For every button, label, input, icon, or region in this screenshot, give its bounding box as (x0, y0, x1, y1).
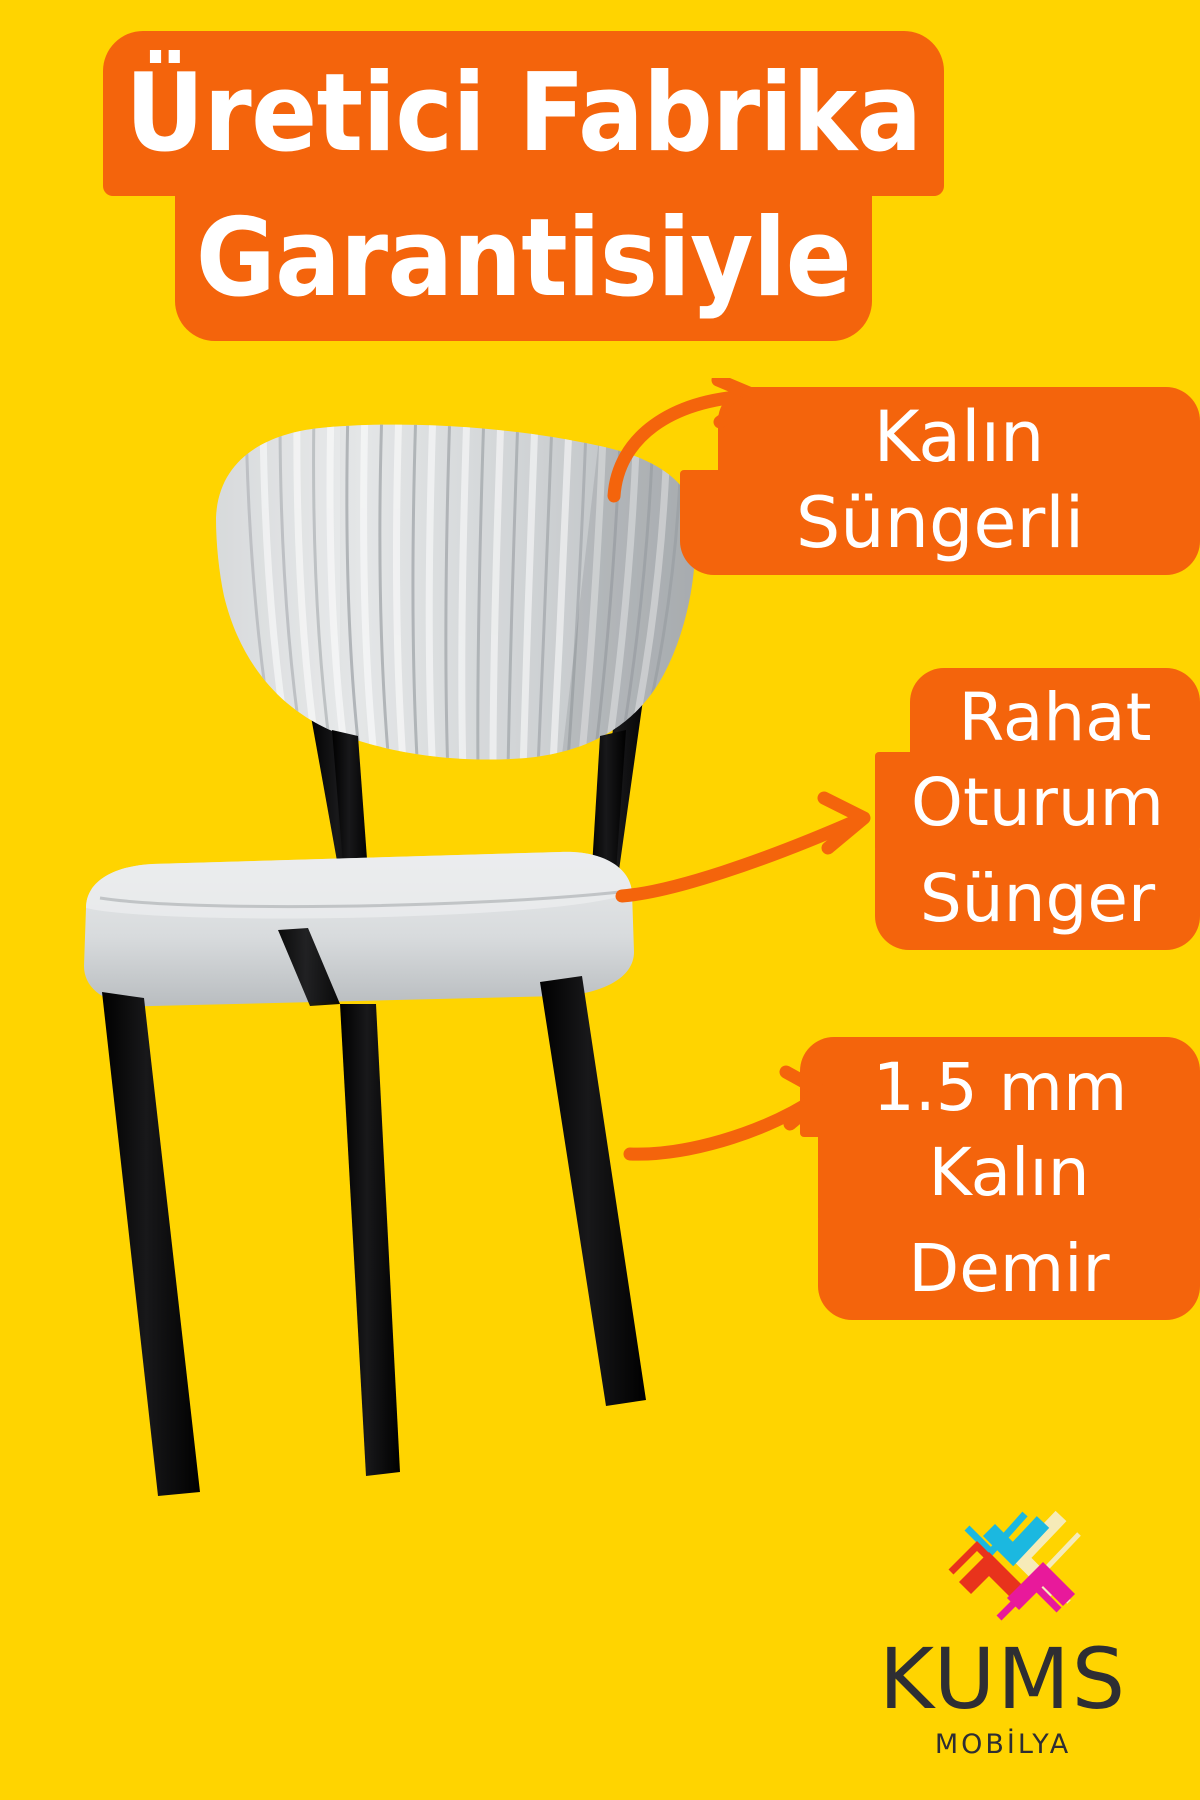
badge-rahat-oturum-sunger-line2: Oturum (875, 752, 1200, 852)
badge-kalin-demir-line3: Demir (818, 1216, 1200, 1320)
arrow-to-kalin-demir (620, 1060, 850, 1180)
brand-tagline: MOBİLYA (935, 1729, 1071, 1760)
header-line-1: Üretici Fabrika (103, 31, 944, 196)
kums-pinwheel-mark-icon (903, 1480, 1103, 1635)
chair-product-image (40, 400, 720, 1530)
badge-rahat-oturum-sunger-line3: Sünger (875, 846, 1200, 950)
arrow-to-rahat-oturum-sunger (612, 790, 892, 910)
poster-canvas: Üretici Fabrika Garantisiyle (0, 0, 1200, 1800)
chair-legs (102, 928, 646, 1496)
brand-logo: KUMS MOBİLYA (838, 1480, 1168, 1770)
header-line-2: Garantisiyle (175, 176, 872, 341)
arrow-to-kalin-sungerli (600, 378, 800, 508)
badge-kalin-demir-line2: Kalın (818, 1122, 1200, 1222)
brand-name: KUMS (879, 1637, 1127, 1721)
